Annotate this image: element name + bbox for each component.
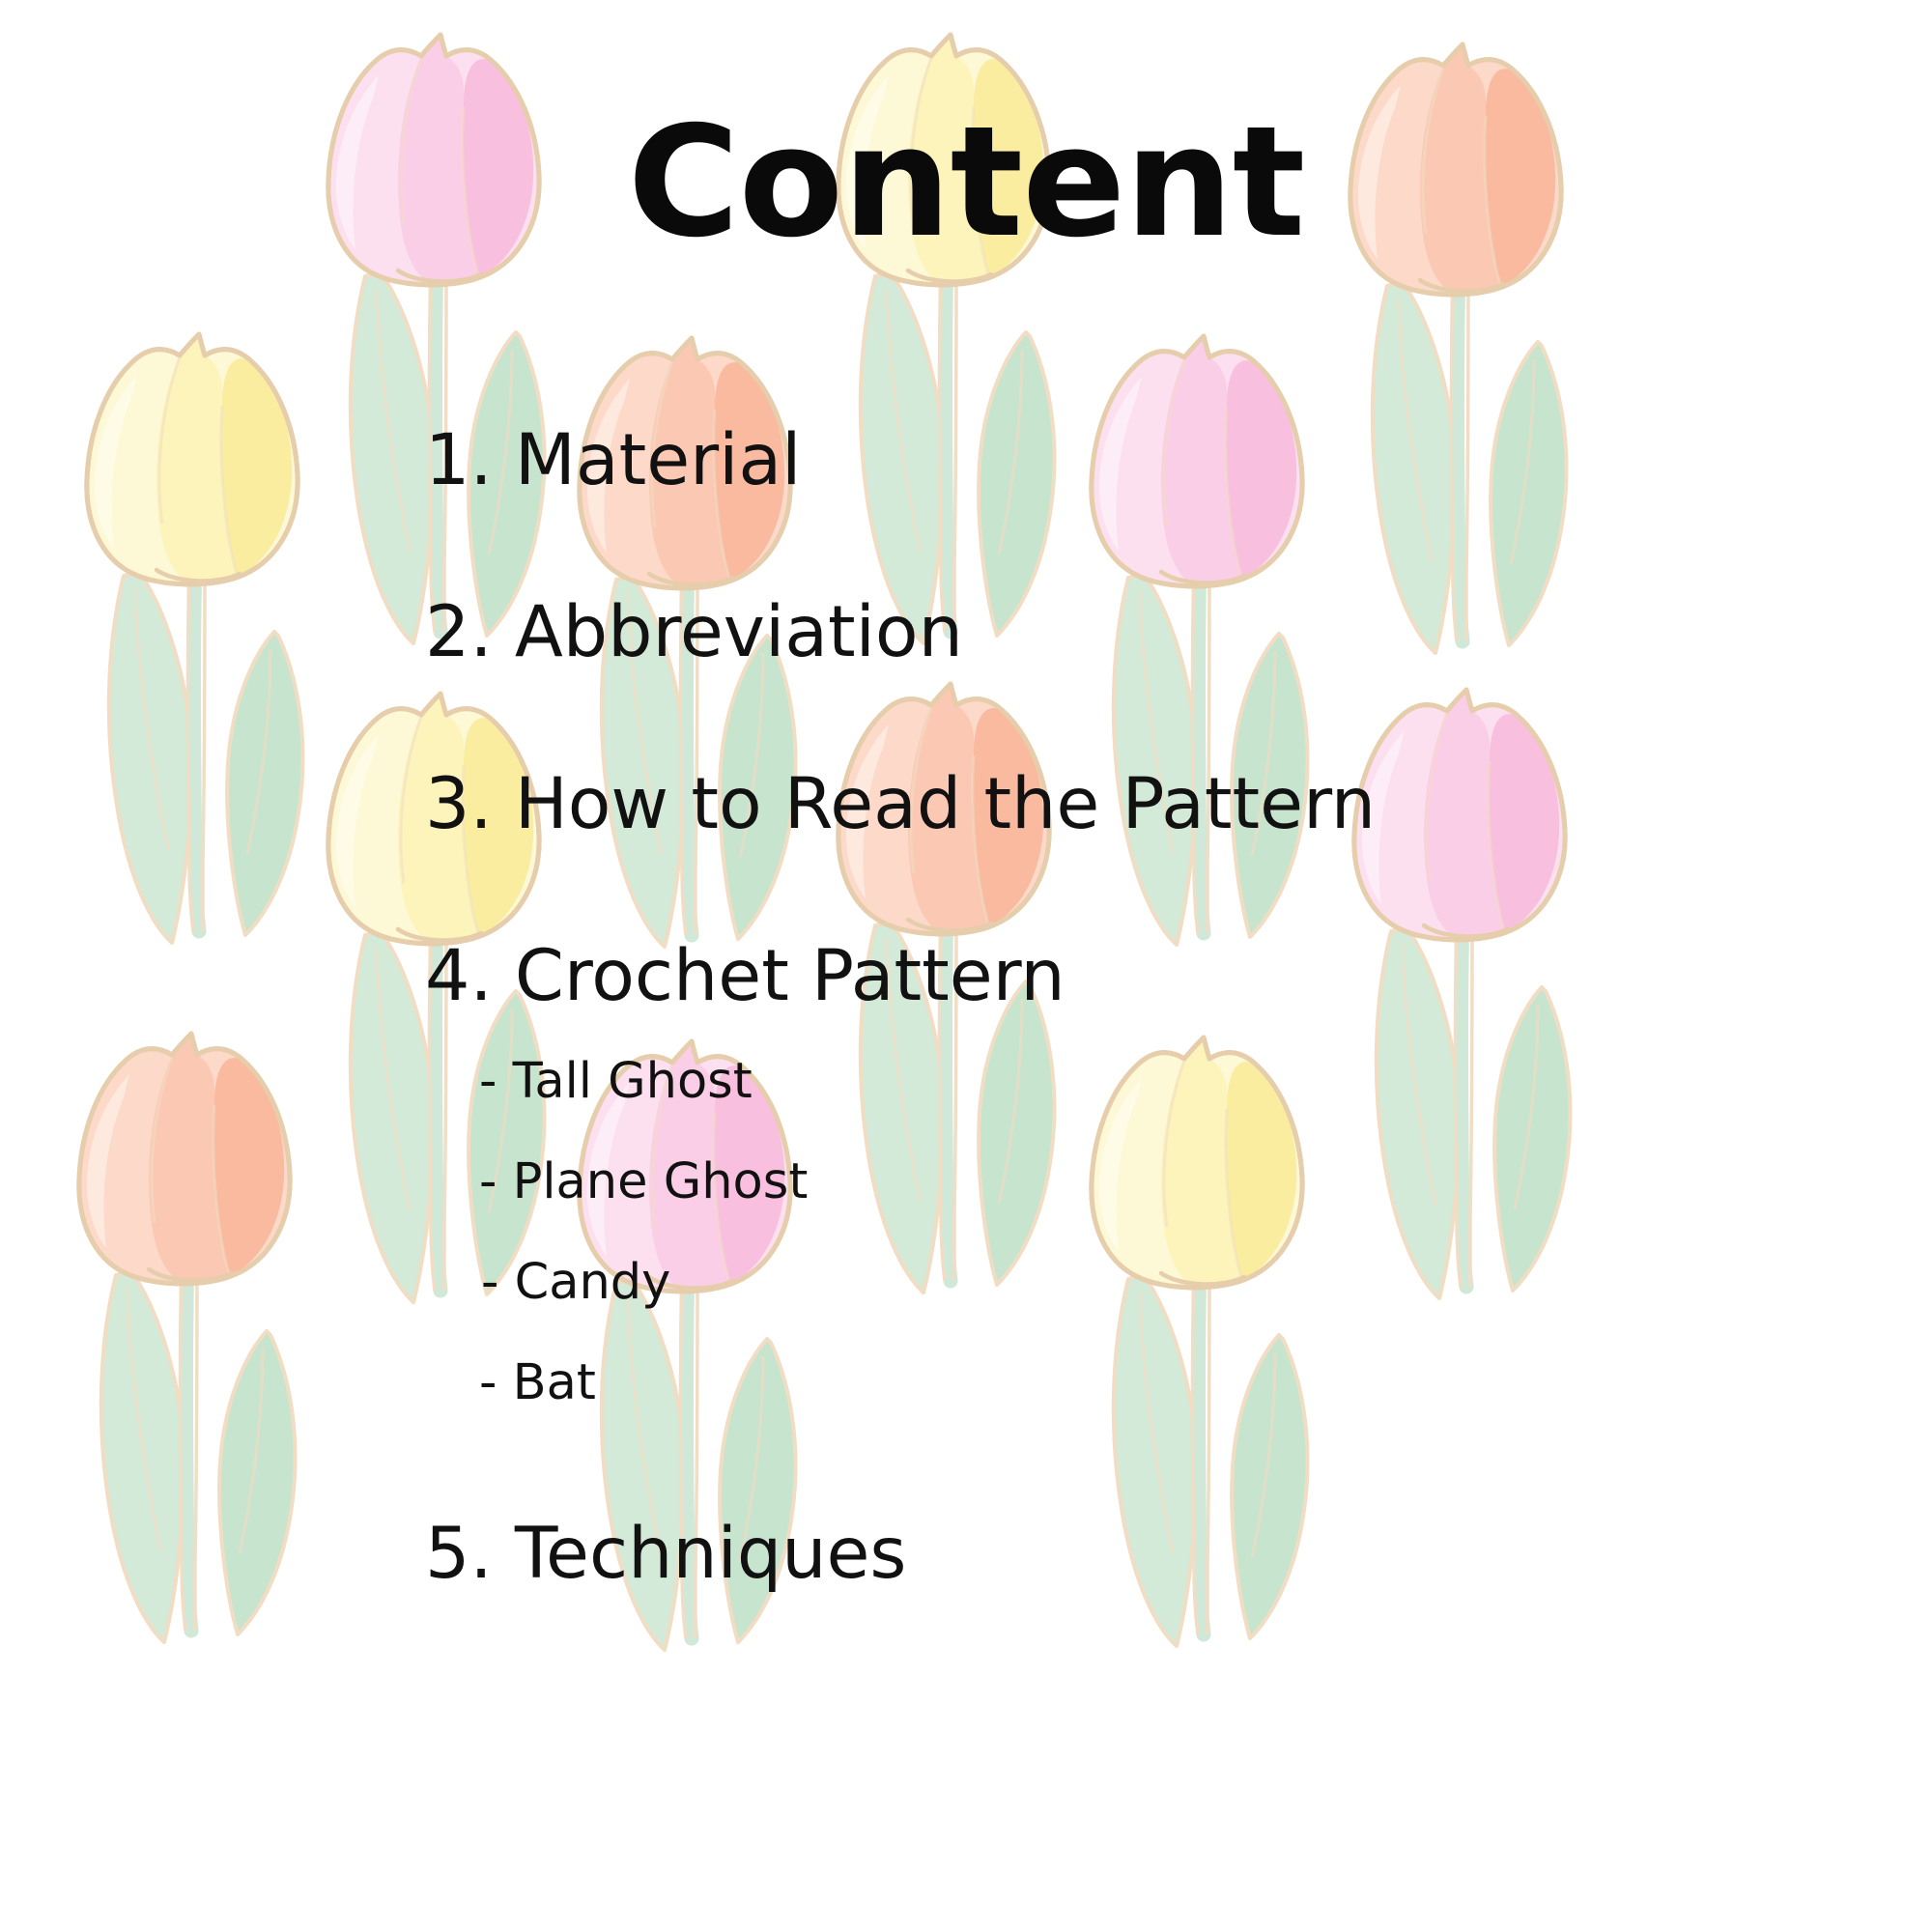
content-layer: Content 1. Material 2. Abbreviation 3. H…: [0, 0, 1932, 1932]
toc-subitem-plane-ghost[interactable]: - Plane Ghost: [479, 1157, 1777, 1207]
toc-subitem-candy[interactable]: - Candy: [479, 1258, 1777, 1307]
toc-subitem-bat[interactable]: - Bat: [479, 1358, 1777, 1407]
page-title: Content: [0, 106, 1932, 259]
toc-item-material[interactable]: 1. Material: [425, 425, 1777, 496]
crochet-pattern-sublist: - Tall Ghost - Plane Ghost - Candy - Bat: [425, 1057, 1777, 1407]
toc-item-crochet-pattern[interactable]: 4. Crochet Pattern: [425, 941, 1777, 1011]
content-page: Content 1. Material 2. Abbreviation 3. H…: [0, 0, 1932, 1932]
sublist-spacer: [425, 1459, 1777, 1519]
toc-item-techniques[interactable]: 5. Techniques: [425, 1519, 1777, 1589]
toc-subitem-tall-ghost[interactable]: - Tall Ghost: [479, 1057, 1777, 1106]
table-of-contents: 1. Material 2. Abbreviation 3. How to Re…: [425, 425, 1777, 1589]
toc-item-how-to-read-the-pattern[interactable]: 3. How to Read the Pattern: [425, 769, 1777, 839]
toc-item-abbreviation[interactable]: 2. Abbreviation: [425, 597, 1777, 668]
